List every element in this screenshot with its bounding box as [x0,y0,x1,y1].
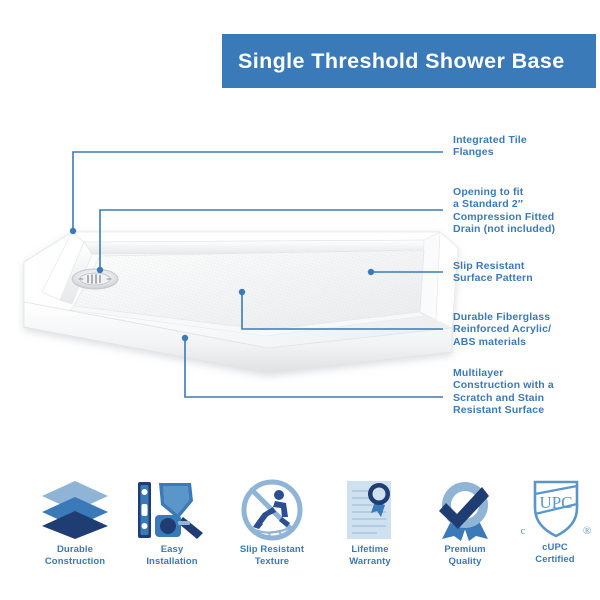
upc-shield-icon: UPC c ® [505,476,600,540]
leader-dot-drain-opening [97,267,103,273]
tools-icon [122,478,222,542]
upc-shield-prefix: c [521,525,526,537]
callout-integrated-tile-flanges: Integrated Tile Flanges [453,134,527,159]
infographic-canvas: Single Threshold Shower Base [0,0,600,600]
callout-slip-resistant-surface-pattern: Slip Resistant Surface Pattern [453,260,533,285]
feature-caption: Easy Installation [122,544,222,567]
leader-dot-integrated-tile-flanges [70,228,76,234]
feature-durable-construction: Durable Construction [25,478,125,567]
callout-multilayer-construction: Multilayer Construction with a Scratch a… [453,367,554,416]
feature-caption: Premium Quality [415,544,515,567]
feature-caption: Durable Construction [25,544,125,567]
upc-shield-mark: UPC [539,493,572,512]
feature-caption: Slip Resistant Texture [222,544,322,567]
leader-dot-durable-fiberglass [239,289,245,295]
feature-lifetime-warranty: Lifetime Warranty [320,478,420,567]
award-check-icon [415,478,515,542]
feature-easy-installation: Easy Installation [122,478,222,567]
leader-dot-slip-resistant-surface [368,269,374,275]
shower-base-body [24,232,458,373]
feature-caption: Lifetime Warranty [320,544,420,567]
certificate-icon [320,478,420,542]
callout-drain-opening: Opening to fit a Standard 2″ Compression… [453,186,555,235]
feature-caption: cUPC Certified [505,542,600,565]
feature-slip-resistant-texture: Slip Resistant Texture [222,478,322,567]
feature-premium-quality: Premium Quality [415,478,515,567]
feature-cupc-certified: UPC c ® cUPC Certified [505,476,600,565]
no-slip-icon [222,478,322,542]
drain-opening [72,269,118,289]
upc-shield-registered: ® [583,525,591,537]
leader-dot-multilayer-construction [182,335,188,341]
callout-durable-fiberglass-material: Durable Fiberglass Reinforced Acrylic/ A… [453,311,551,348]
layers-icon [25,478,125,542]
leader-integrated-tile-flanges [73,152,443,231]
